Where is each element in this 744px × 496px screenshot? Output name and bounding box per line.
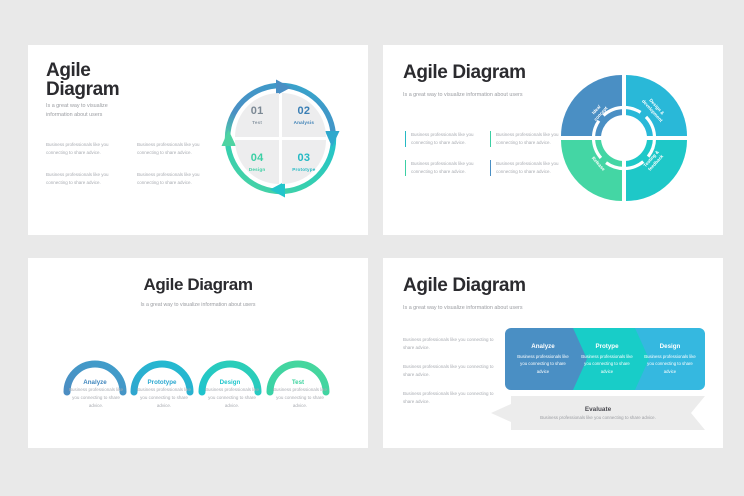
chevron-text: Business professionals like you connecti… (580, 353, 634, 375)
feedback-label: Evaluate (585, 406, 611, 413)
quadrant-number: 04 (251, 152, 264, 164)
slide-agile-donut-segments[interactable]: Agile Diagram Is a great way to visualiz… (383, 45, 723, 235)
chevron-content-design: Design Business professionals like you c… (634, 328, 706, 390)
description-column: Business professionals like you connecti… (403, 336, 495, 418)
chevron-label: Analyze (531, 343, 554, 350)
quadrant-label: Prototype (292, 167, 315, 172)
donut-svg (559, 73, 689, 203)
quadrant-number: 03 (297, 152, 310, 164)
description-text: Business professionals like you connecti… (411, 160, 480, 176)
quadrant-label: Design (249, 167, 266, 172)
arch-caption: Business professionals like you connecti… (130, 386, 198, 410)
quadrant-label: Analysis (294, 120, 315, 125)
description-text: Business professionals like you connecti… (137, 171, 216, 187)
page-subtitle: Is a great way to visualize information … (403, 305, 523, 311)
slide-deck-canvas: Agile Diagram Is a great way to visualiz… (0, 0, 744, 496)
chevron-label: Protype (595, 343, 618, 350)
page-subtitle: Is a great way to visualize information … (28, 302, 368, 308)
quadrant-label: Test (252, 120, 262, 125)
chevron-text: Business professionals like you connecti… (643, 353, 697, 375)
description-item: Business professionals like you connecti… (490, 160, 565, 176)
arrow-head-left-icon (222, 130, 237, 146)
page-subtitle: Is a great way to visualize information … (403, 92, 523, 98)
feedback-text: Business professionals like you connecti… (540, 415, 656, 420)
quadrant-analysis[interactable]: 02 Analysis (282, 93, 326, 137)
chevron-group: Analyze Business professionals like you … (505, 328, 705, 390)
slide-agile-chevron-flow[interactable]: Agile Diagram Is a great way to visualiz… (383, 258, 723, 448)
chevron-content-protype: Protype Business professionals like you … (571, 328, 643, 390)
description-text: Business professionals like you connecti… (137, 141, 216, 157)
arch-caption: Business professionals like you connecti… (198, 386, 266, 410)
description-text: Business professionals like you connecti… (411, 131, 480, 147)
quadrant-number: 01 (251, 105, 264, 117)
quadrant-number: 02 (297, 105, 310, 117)
arrow-head-right-icon (325, 131, 340, 147)
page-title: Agile Diagram (403, 63, 526, 82)
description-text: Business professionals like you connecti… (46, 171, 125, 187)
donut-hub (601, 115, 647, 161)
description-grid: Business professionals like you connecti… (46, 141, 216, 187)
quadrant-prototype[interactable]: 03 Prototype (282, 140, 326, 184)
page-title: Agile Diagram (403, 276, 526, 295)
description-grid: Business professionals like you connecti… (405, 131, 565, 176)
arch-label-analyze: Analyze (62, 379, 128, 386)
slide-agile-arches[interactable]: Agile Diagram Is a great way to visualiz… (28, 258, 368, 448)
chevron-text: Business professionals like you connecti… (516, 353, 570, 375)
arch-caption: Business professionals like you connecti… (62, 386, 130, 410)
description-text: Business professionals like you connecti… (46, 141, 125, 157)
quadrant-design[interactable]: 04 Design (235, 140, 279, 184)
feedback-content: Evaluate Business professionals like you… (491, 396, 705, 430)
arch-label-test: Test (265, 379, 331, 386)
chevron-label: Design (660, 343, 681, 350)
arch-caption: Business professionals like you connecti… (266, 386, 334, 410)
arch-label-design: Design (197, 379, 263, 386)
description-text: Business professionals like you connecti… (496, 160, 565, 176)
description-item: Business professionals like you connecti… (405, 160, 480, 176)
page-title: Agile Diagram (46, 61, 176, 100)
agile-cycle-diagram: 01 Test 02 Analysis 04 Design 03 Prototy… (213, 71, 348, 206)
quadrant-group: 01 Test 02 Analysis 04 Design 03 Prototy… (235, 93, 326, 184)
description-text: Business professionals like you connecti… (403, 390, 495, 406)
arch-label-prototype: Prototype (129, 379, 195, 386)
page-title: Agile Diagram (28, 276, 368, 293)
feedback-arrow-group: Evaluate Business professionals like you… (491, 396, 705, 430)
description-text: Business professionals like you connecti… (403, 363, 495, 379)
description-item: Business professionals like you connecti… (405, 131, 480, 147)
quadrant-test[interactable]: 01 Test (235, 93, 279, 137)
chevron-content-analyze: Analyze Business professionals like you … (507, 328, 579, 390)
arch-caption-row: Business professionals like you connecti… (62, 386, 334, 410)
description-text: Business professionals like you connecti… (403, 336, 495, 352)
description-text: Business professionals like you connecti… (496, 131, 565, 147)
agile-donut-diagram: Idea/ concept Design & development Testi… (559, 73, 689, 203)
page-subtitle: Is a great way to visualize information … (46, 102, 154, 120)
description-item: Business professionals like you connecti… (490, 131, 565, 147)
slide-agile-circle-quadrants[interactable]: Agile Diagram Is a great way to visualiz… (28, 45, 368, 235)
